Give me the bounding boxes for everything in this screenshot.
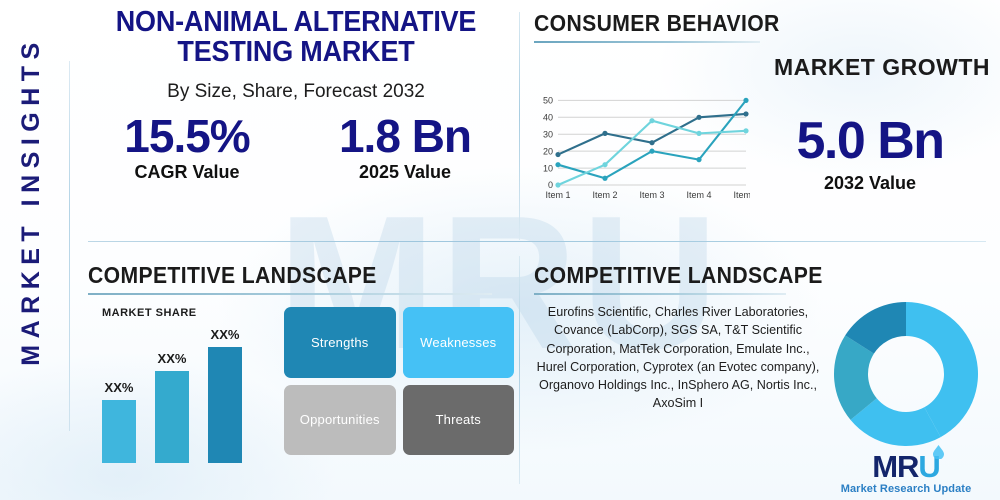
stat-cagr: 15.5% CAGR Value — [78, 113, 296, 183]
market-share-caption: MARKET SHARE — [102, 307, 278, 319]
line-data-point — [649, 118, 654, 123]
key-stats-row: 15.5% CAGR Value 1.8 Bn 2025 Value — [78, 113, 514, 183]
line-data-point — [696, 115, 701, 120]
consumer-behavior-body: 01020304050 Item 1Item 2Item 3Item 4Item… — [534, 89, 990, 205]
swot-box-weaknesses[interactable]: Weaknesses — [403, 307, 515, 378]
sidebar-banner-label: MARKET INSIGHTS — [17, 36, 46, 365]
x-axis-tick-label: Item 2 — [592, 190, 617, 200]
mru-wordmark: MRU — [872, 451, 940, 482]
swot-box-threats[interactable]: Threats — [403, 385, 515, 456]
stat-2025: 1.8 Bn 2025 Value — [296, 113, 514, 183]
market-growth-label: 2032 Value — [750, 173, 990, 194]
line-data-point — [649, 149, 654, 154]
line-chart-series-group — [555, 98, 748, 188]
line-chart-container: 01020304050 Item 1Item 2Item 3Item 4Item… — [534, 89, 750, 205]
line-data-point — [602, 162, 607, 167]
consumer-behavior-panel: CONSUMER BEHAVIOR MARKET GROWTH 01020304… — [534, 10, 990, 236]
stat-cagr-label: CAGR Value — [78, 162, 296, 183]
divider-vertical-top — [519, 12, 520, 240]
bar-rect — [155, 371, 189, 463]
bar-column-2: XX% — [155, 327, 189, 463]
page-subtitle: By Size, Share, Forecast 2032 — [78, 81, 514, 103]
x-axis-tick-label: Item 3 — [639, 190, 664, 200]
line-data-point — [743, 128, 748, 133]
mru-tagline: Market Research Update — [841, 483, 972, 495]
bar-rect — [208, 347, 242, 463]
line-data-point — [602, 131, 607, 136]
market-growth-stat: 5.0 Bn 2032 Value — [750, 89, 990, 205]
bar-value-label: XX% — [155, 351, 189, 366]
competitive-landscape-left-panel: COMPETITIVE LANDSCAPE MARKET SHARE XX%XX… — [88, 262, 514, 490]
y-axis-tick-label: 0 — [548, 180, 553, 190]
divider-horizontal — [88, 241, 986, 242]
title-panel: NON-ANIMAL ALTERNATIVE TESTING MARKET By… — [78, 8, 514, 236]
mru-logo: MRU Market Research Update — [841, 451, 972, 495]
consumer-behavior-underline — [534, 41, 760, 43]
swot-grid: StrengthsWeaknessesOpportunitiesThreats — [284, 307, 514, 455]
line-data-point — [555, 182, 560, 187]
page-title: NON-ANIMAL ALTERNATIVE TESTING MARKET — [93, 8, 498, 68]
swot-box-opportunities[interactable]: Opportunities — [284, 385, 396, 456]
bar-column-1: XX% — [102, 327, 136, 463]
line-chart-y-axis-labels: 01020304050 — [543, 96, 553, 191]
competitive-landscape-left-heading: COMPETITIVE LANDSCAPE — [88, 262, 480, 289]
line-data-point — [743, 98, 748, 103]
bar-value-label: XX% — [102, 380, 136, 395]
y-axis-tick-label: 50 — [543, 96, 553, 106]
line-data-point — [696, 157, 701, 162]
consumer-behavior-heading: CONSUMER BEHAVIOR — [534, 10, 954, 37]
competitive-landscape-right-panel: COMPETITIVE LANDSCAPE Eurofins Scientifi… — [534, 262, 990, 490]
company-list: Eurofins Scientific, Charles River Labor… — [534, 303, 822, 495]
line-data-point — [555, 162, 560, 167]
competitive-landscape-left-body: MARKET SHARE XX%XX%XX% StrengthsWeakness… — [88, 307, 514, 463]
bar-value-label: XX% — [208, 327, 242, 342]
line-data-point — [602, 176, 607, 181]
donut-chart — [831, 299, 981, 449]
x-axis-tick-label: Item 4 — [686, 190, 711, 200]
infographic-frame: MARKET INSIGHTS NON-ANIMAL ALTERNATIVE T… — [0, 0, 1000, 500]
bar-rect — [102, 400, 136, 463]
bar-chart: XX%XX%XX% — [102, 327, 278, 463]
divider-sidebar — [69, 61, 70, 431]
bar-column-3: XX% — [208, 327, 242, 463]
mru-wordmark-mr: MR — [872, 449, 918, 484]
competitive-landscape-left-underline — [88, 293, 492, 295]
line-data-point — [743, 111, 748, 116]
y-axis-tick-label: 10 — [543, 163, 553, 173]
line-data-point — [555, 152, 560, 157]
line-chart: 01020304050 Item 1Item 2Item 3Item 4Item… — [534, 89, 750, 205]
competitive-landscape-right-body: Eurofins Scientific, Charles River Labor… — [534, 303, 990, 495]
droplet-icon — [933, 445, 944, 459]
market-growth-value: 5.0 Bn — [750, 115, 990, 167]
stat-2025-label: 2025 Value — [296, 162, 514, 183]
line-data-point — [649, 140, 654, 145]
sidebar-banner: MARKET INSIGHTS — [0, 1, 62, 401]
swot-box-strengths[interactable]: Strengths — [284, 307, 396, 378]
stat-cagr-value: 15.5% — [78, 113, 296, 160]
x-axis-tick-label: Item 5 — [733, 190, 750, 200]
competitive-landscape-right-heading: COMPETITIVE LANDSCAPE — [534, 262, 954, 289]
divider-vertical-bottom — [519, 256, 520, 484]
x-axis-tick-label: Item 1 — [545, 190, 570, 200]
line-series-2 — [558, 100, 746, 178]
donut-block: MRU Market Research Update — [822, 303, 990, 495]
competitive-landscape-right-underline — [534, 293, 786, 295]
y-axis-tick-label: 20 — [543, 146, 553, 156]
market-share-block: MARKET SHARE XX%XX%XX% — [88, 307, 278, 463]
market-growth-heading: MARKET GROWTH — [534, 54, 990, 81]
stat-2025-value: 1.8 Bn — [296, 113, 514, 160]
line-chart-x-axis-labels: Item 1Item 2Item 3Item 4Item 5 — [545, 190, 750, 200]
y-axis-tick-label: 40 — [543, 113, 553, 123]
line-data-point — [696, 131, 701, 136]
y-axis-tick-label: 30 — [543, 129, 553, 139]
